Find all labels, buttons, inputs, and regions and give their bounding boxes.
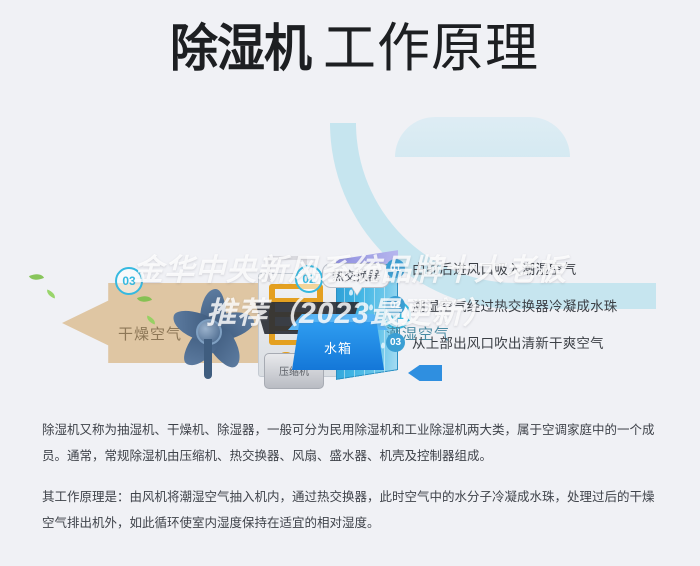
infographic-page: 除湿机工作原理 干燥空气	[0, 0, 700, 566]
title-part-two: 工作原理	[323, 22, 539, 75]
title-part-one: 除湿机	[170, 23, 311, 74]
list-item: 02 潮湿空气经过热交换器冷凝成水珠	[386, 295, 686, 315]
step-number: 01	[386, 259, 405, 278]
list-item: 01 由前后进风口吸入潮湿空气	[386, 258, 686, 278]
paragraph-two: 其工作原理是：由风机将潮湿空气抽入机内，通过热交换器，此时空气中的水分子冷凝成水…	[42, 485, 662, 536]
page-title: 除湿机工作原理	[0, 22, 700, 75]
fan-icon	[160, 283, 255, 378]
description-text: 除湿机又称为抽湿机、干燥机、除湿器，一般可分为民用除湿机和工业除湿机两大类，属于…	[42, 418, 662, 553]
list-item: 03 从上部出风口吹出清新干爽空气	[386, 332, 686, 352]
badge-02: 02	[295, 265, 323, 293]
leaf-icon	[45, 289, 56, 298]
step-number: 03	[386, 333, 405, 352]
step-list: 01 由前后进风口吸入潮湿空气 02 潮湿空气经过热交换器冷凝成水珠 03 从上…	[386, 258, 686, 369]
step-text: 由前后进风口吸入潮湿空气	[412, 258, 576, 278]
step-text: 从上部出风口吹出清新干爽空气	[412, 332, 604, 352]
step-text: 潮湿空气经过热交换器冷凝成水珠	[412, 295, 618, 315]
badge-03: 03	[115, 267, 143, 295]
paragraph-one: 除湿机又称为抽湿机、干燥机、除湿器，一般可分为民用除湿机和工业除湿机两大类，属于…	[42, 418, 662, 469]
step-number: 02	[386, 296, 405, 315]
heat-exchanger-callout: 热交换器	[322, 263, 390, 288]
leaf-icon	[29, 271, 44, 284]
water-tank-label: 水箱	[292, 338, 384, 357]
